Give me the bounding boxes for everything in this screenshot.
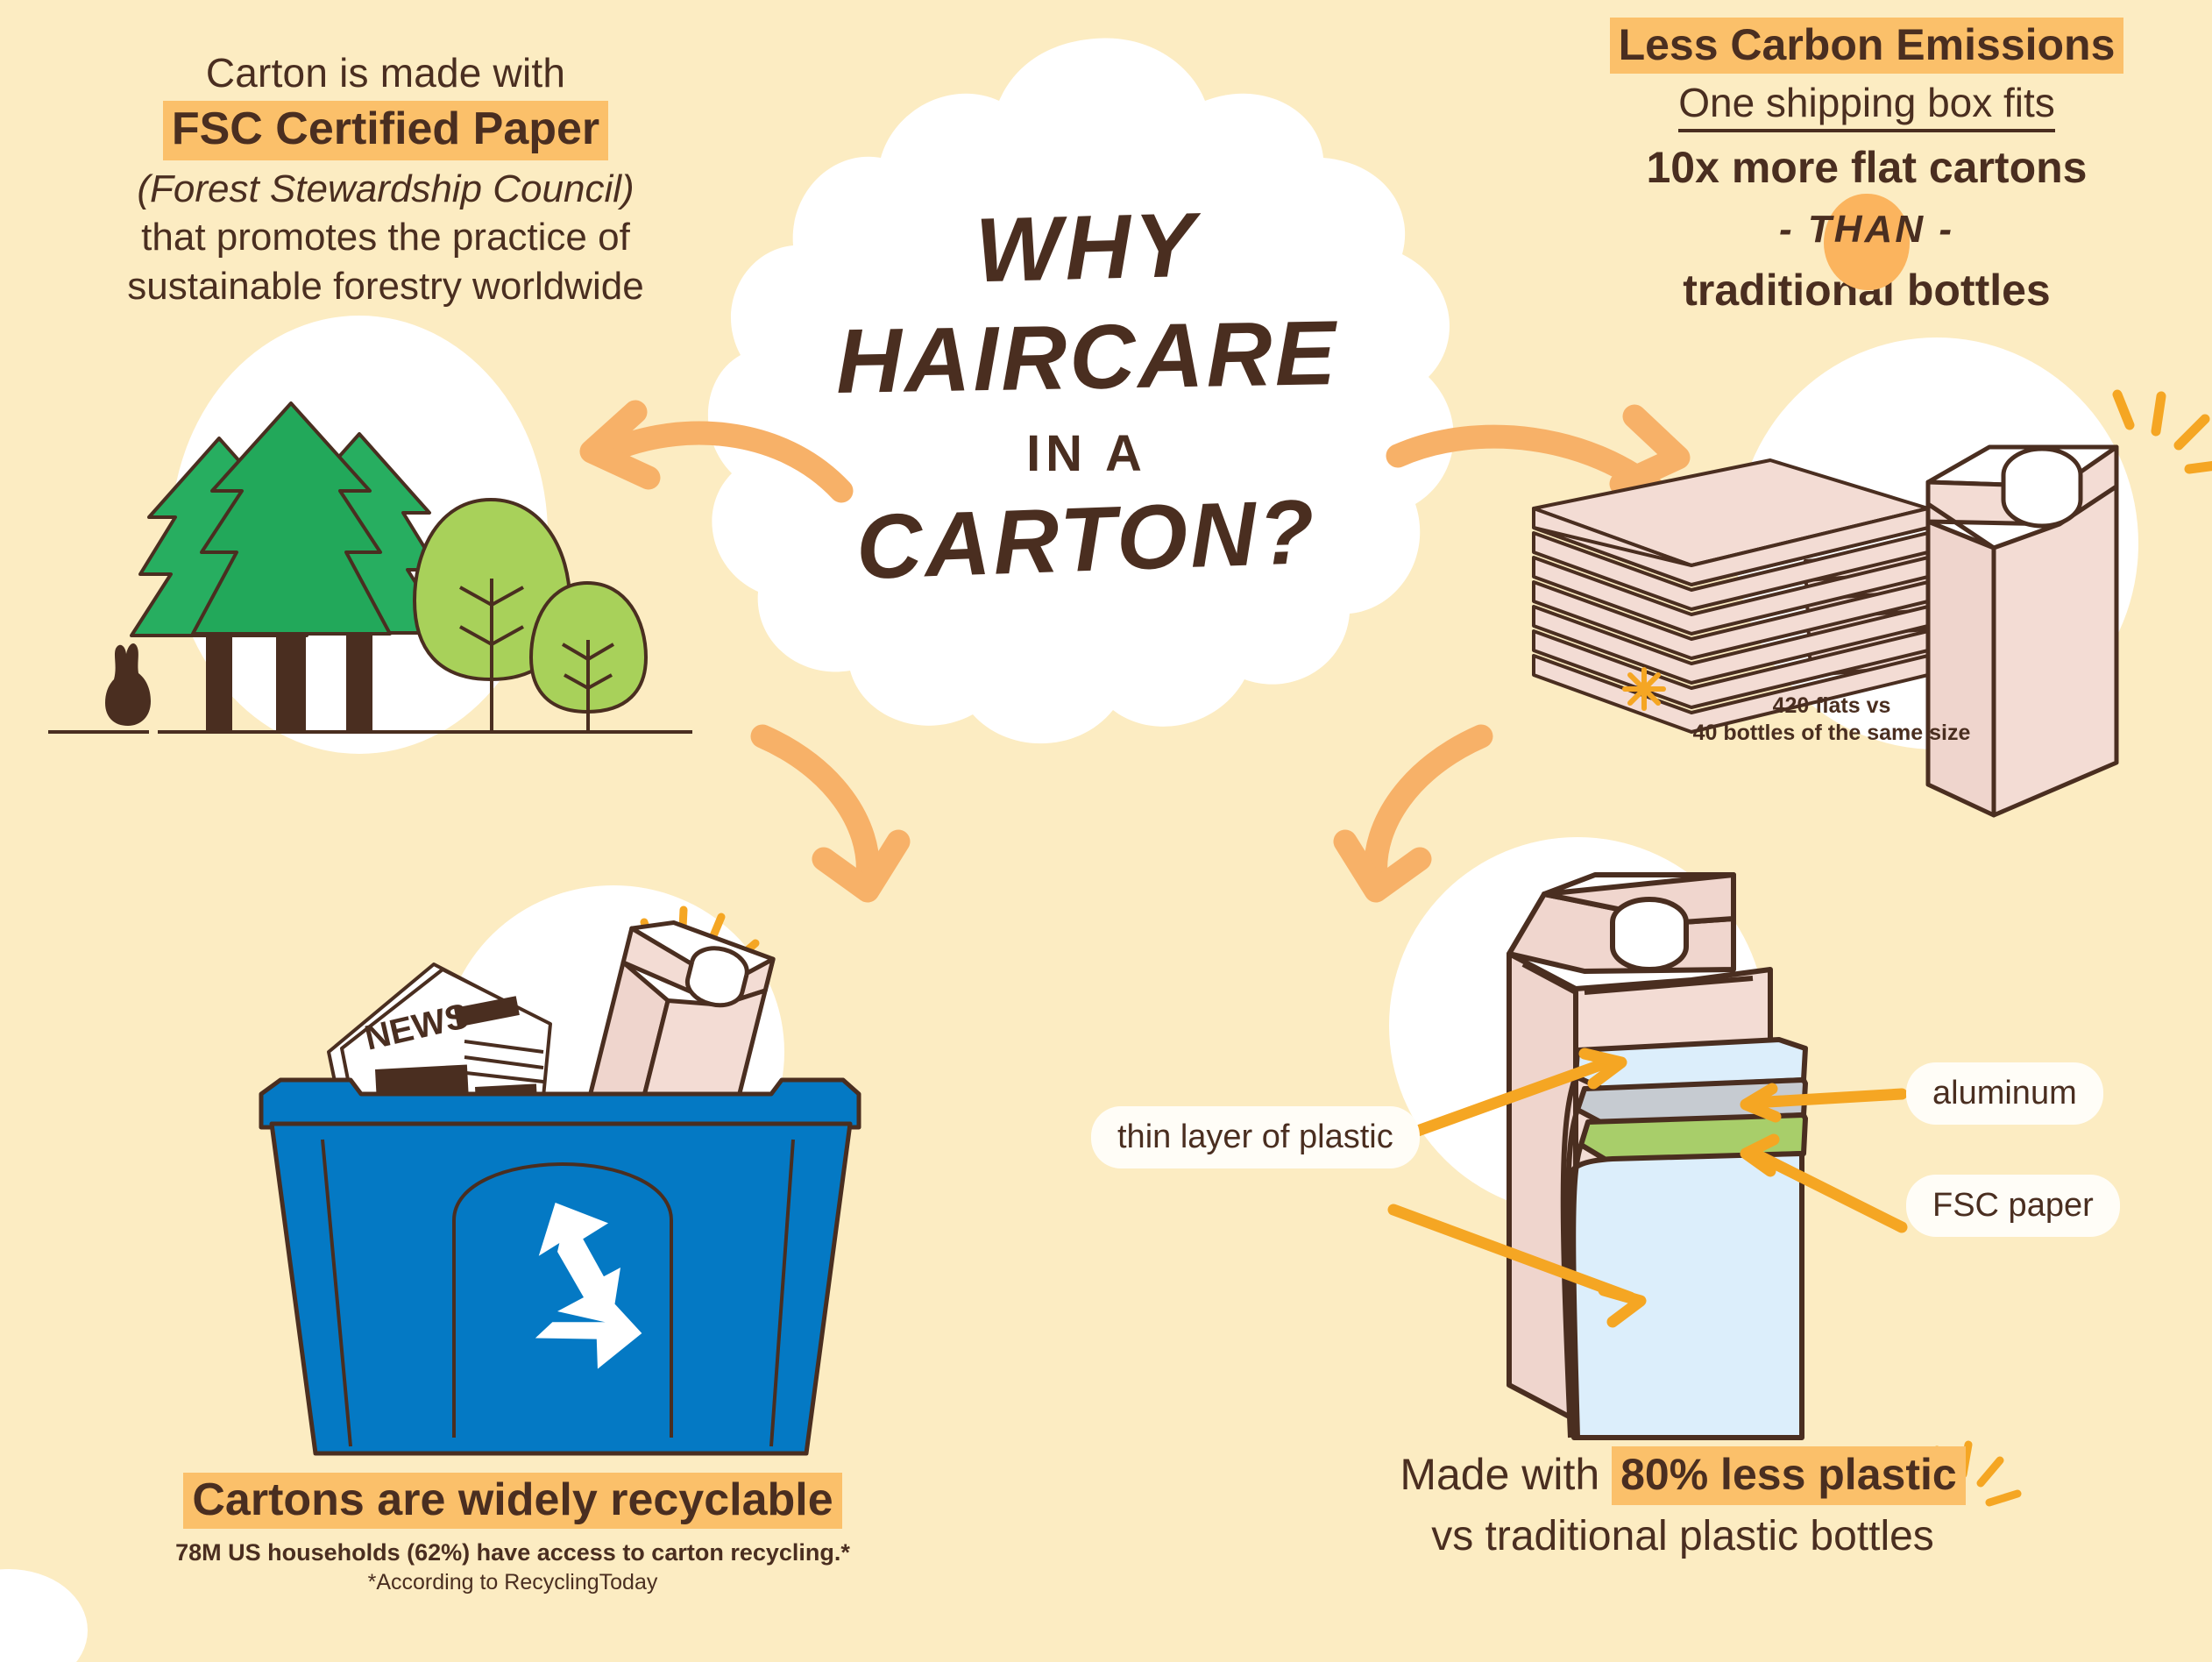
recycling-bin-illustration: NEWS	[245, 885, 876, 1464]
flat-cartons-illustration	[1516, 377, 2212, 815]
arrow-to-bin-icon	[727, 719, 982, 912]
asterisk-icon	[1620, 664, 1669, 714]
than-badge: - THAN -	[1542, 197, 2191, 262]
recyclable-text-block: Cartons are widely recyclable 78M US hou…	[131, 1473, 894, 1595]
recyclable-stat: 78M US households (62%) have access to c…	[131, 1539, 894, 1566]
fsc-line-1: Carton is made with	[53, 48, 719, 97]
callout-plastic: thin layer of plastic	[1091, 1106, 1420, 1168]
arrow-to-carton-icon	[1271, 719, 1525, 912]
infographic-canvas: WHY HAIRCARE IN A CARTON? Carton is made…	[0, 0, 2212, 1662]
flats-footnote-line-2: 40 bottles of the same size	[1656, 720, 2007, 747]
fsc-highlight: FSC Certified Paper	[163, 101, 608, 160]
fsc-line-5: sustainable forestry worldwide	[53, 263, 719, 310]
carbon-line-3: 10x more flat cartons	[1542, 141, 2191, 194]
carbon-heading: Less Carbon Emissions	[1610, 18, 2124, 74]
carbon-line-2: One shipping box fits	[1678, 79, 2055, 132]
title-line-3: IN A	[1026, 424, 1147, 483]
forest-illustration	[26, 377, 727, 745]
layered-carton-illustration	[1490, 859, 1893, 1464]
callout-aluminum: aluminum	[1906, 1062, 2103, 1125]
flats-footnote: 420 flats vs 40 bottles of the same size	[1656, 692, 2007, 748]
title-line-4: CARTON?	[854, 480, 1318, 600]
less-plastic-text-block: Made with 80% less plastic vs traditiona…	[1332, 1446, 2033, 1563]
fsc-line-4: that promotes the practice of	[53, 214, 719, 261]
less-plastic-line-2: vs traditional plastic bottles	[1332, 1510, 2033, 1563]
fsc-text-block: Carton is made with FSC Certified Paper …	[53, 48, 719, 310]
callout-fsc-paper: FSC paper	[1906, 1175, 2120, 1237]
than-label: - THAN -	[1542, 197, 2191, 262]
rabbit-icon	[105, 643, 151, 726]
carbon-text-block: Less Carbon Emissions One shipping box f…	[1542, 18, 2191, 316]
fsc-line-3: (Forest Stewardship Council)	[53, 166, 719, 213]
less-plastic-highlight: 80% less plastic	[1612, 1446, 1966, 1505]
recyclable-source: *According to RecyclingToday	[131, 1570, 894, 1595]
recyclable-heading: Cartons are widely recyclable	[183, 1473, 841, 1529]
title-line-1: WHY	[974, 194, 1200, 304]
flats-footnote-line-1: 420 flats vs	[1656, 692, 2007, 720]
less-plastic-prefix: Made with	[1400, 1450, 1612, 1499]
